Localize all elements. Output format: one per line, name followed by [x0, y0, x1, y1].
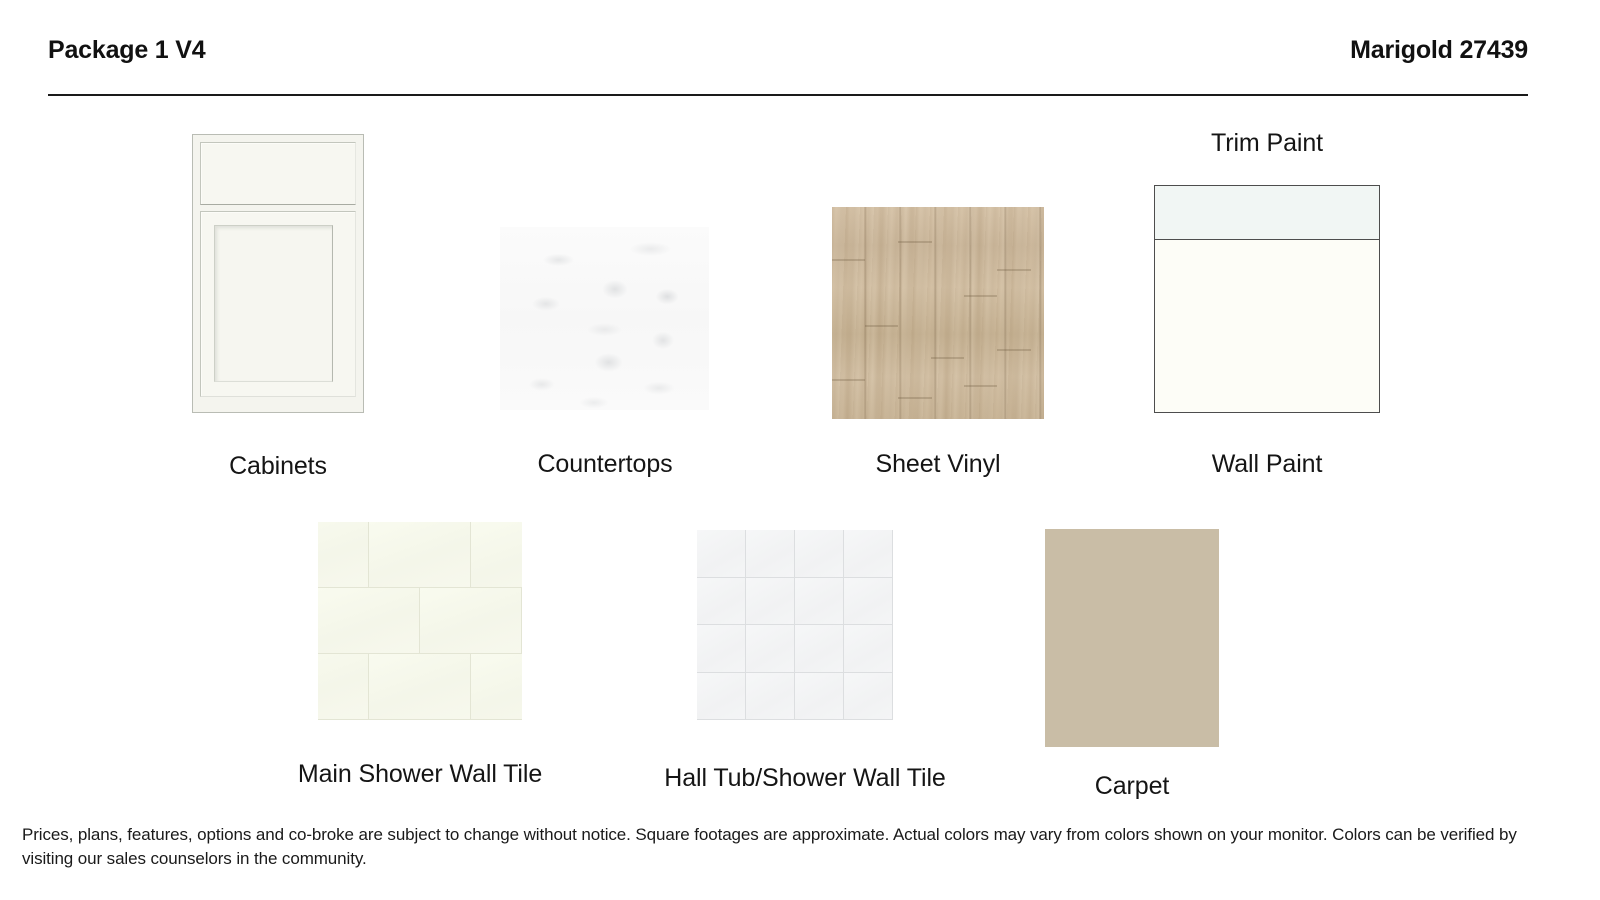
tile-row	[697, 578, 893, 626]
swatch-countertops[interactable]	[500, 227, 709, 410]
cabinet-drawer-front	[200, 142, 356, 205]
wall-paint-band	[1155, 240, 1379, 412]
community-title: Marigold 27439	[1350, 38, 1528, 63]
tile-row	[697, 625, 893, 673]
swatch-label-hall-tub-shower-wall-tile: Hall Tub/Shower Wall Tile	[650, 764, 960, 793]
page-title: Package 1 V4	[48, 38, 205, 63]
swatch-paint-chip[interactable]	[1154, 185, 1380, 413]
disclaimer-text: Prices, plans, features, options and co-…	[22, 823, 1552, 871]
cabinet-recessed-panel	[214, 225, 333, 382]
tile-row	[697, 673, 893, 721]
swatch-label-sheet-vinyl: Sheet Vinyl	[832, 450, 1044, 479]
swatch-sheet-vinyl[interactable]	[832, 207, 1044, 419]
tile-row	[318, 588, 522, 654]
design-package-board: Package 1 V4 Marigold 27439 Cabinets Cou…	[0, 0, 1600, 900]
tile-row	[318, 654, 522, 720]
tile-row	[318, 522, 522, 588]
swatch-main-shower-wall-tile[interactable]	[318, 522, 522, 720]
swatch-label-cabinets: Cabinets	[172, 452, 384, 481]
swatch-label-carpet: Carpet	[1032, 772, 1232, 801]
board-header: Package 1 V4 Marigold 27439	[48, 38, 1528, 96]
swatch-hall-tub-shower-wall-tile[interactable]	[697, 530, 893, 720]
swatch-carpet[interactable]	[1045, 529, 1219, 747]
cabinet-door-front	[200, 211, 356, 397]
tile-row	[697, 530, 893, 578]
swatch-cabinets[interactable]	[192, 134, 364, 413]
swatch-label-trim-paint: Trim Paint	[1154, 129, 1380, 158]
swatch-label-wall-paint: Wall Paint	[1154, 450, 1380, 479]
swatch-label-main-shower-wall-tile: Main Shower Wall Tile	[280, 760, 560, 789]
swatch-label-countertops: Countertops	[499, 450, 711, 479]
trim-paint-band	[1155, 186, 1379, 240]
